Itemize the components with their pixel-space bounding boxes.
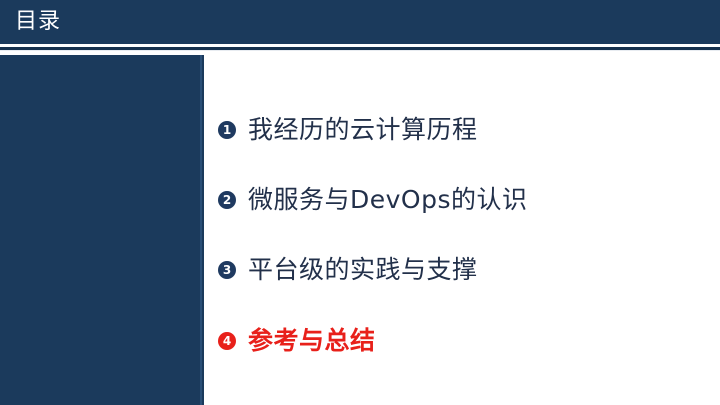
header-divider-shadow (0, 50, 720, 51)
side-panel (0, 55, 204, 405)
toc-item-4[interactable]: 4 参考与总结 (218, 321, 376, 361)
toc-label-4: 参考与总结 (248, 324, 376, 358)
toc-bullet-2-icon: 2 (218, 191, 236, 209)
toc-item-3[interactable]: 3 平台级的实践与支撑 (218, 250, 478, 290)
side-panel-edge (200, 55, 202, 405)
toc-bullet-4-icon: 4 (218, 332, 236, 350)
toc-label-3: 平台级的实践与支撑 (248, 253, 478, 287)
page-title: 目录 (15, 8, 61, 36)
slide-canvas: 目录 1 我经历的云计算历程 2 微服务与DevOps的认识 3 平台级的实践与… (0, 0, 720, 405)
header-bar (0, 0, 720, 44)
table-of-contents: 1 我经历的云计算历程 2 微服务与DevOps的认识 3 平台级的实践与支撑 … (218, 96, 708, 396)
toc-bullet-3-icon: 3 (218, 261, 236, 279)
toc-bullet-1-icon: 1 (218, 121, 236, 139)
toc-item-1[interactable]: 1 我经历的云计算历程 (218, 110, 478, 150)
toc-item-2[interactable]: 2 微服务与DevOps的认识 (218, 180, 528, 220)
toc-label-2: 微服务与DevOps的认识 (248, 183, 528, 217)
toc-label-1: 我经历的云计算历程 (248, 113, 478, 147)
